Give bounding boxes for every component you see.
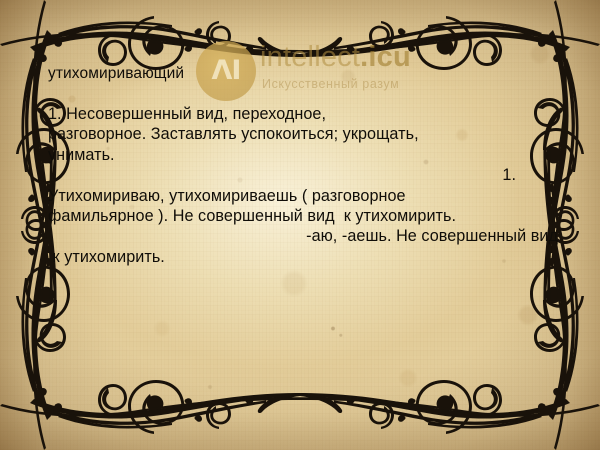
edge-wave-bottom-right (300, 397, 600, 417)
edge-wave-top-right (300, 33, 600, 53)
dictionary-card: ΛI intellect.icu Искусственный разум ути… (0, 0, 600, 450)
definition-line: к утихомирить. (48, 247, 558, 267)
definition-line: разговорное. Заставлять успокоиться; укр… (48, 124, 558, 144)
definition-line: -аю, -аешь. Не совершенный вид (48, 226, 558, 246)
card-content: утихомиривающий 1. Несовершенный вид, пе… (48, 64, 558, 267)
definition-line: унимать. (48, 145, 558, 165)
definition-block: 1. Несовершенный вид, переходное,разгово… (48, 104, 558, 267)
definition-line: 1. (48, 165, 558, 185)
definition-line: фамильярное ). Не совершенный вид к утих… (48, 206, 558, 226)
edge-wave-top-left (0, 33, 300, 53)
headword: утихомиривающий (48, 64, 558, 84)
edge-wave-bottom-left (0, 397, 300, 417)
definition-line: 1. Несовершенный вид, переходное, (48, 104, 558, 124)
definition-line: Утихомириваю, утихомириваешь ( разговорн… (48, 186, 558, 206)
